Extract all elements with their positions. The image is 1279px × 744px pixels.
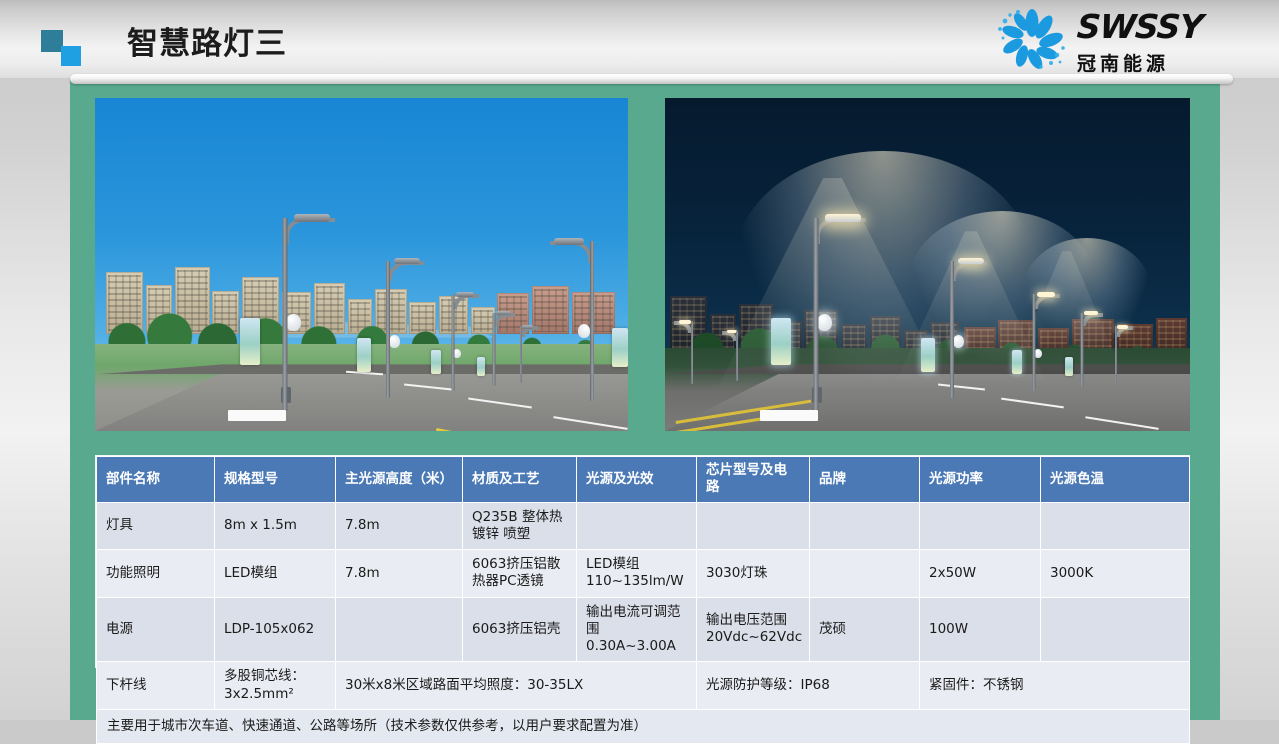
water-droplet-flower-logo-icon [993,7,1071,73]
cell-2-5: 输出电压范围20Vdc~62Vdc [697,597,810,662]
specification-table-container: 部件名称 规格型号 主光源高度（米） 材质及工艺 光源及光效 芯片型号及电路 品… [96,456,1189,667]
cell-1-1: LED模组 [215,550,336,598]
cell-2-4: 输出电流可调范围0.30A~3.00A [577,597,697,662]
cell-2-1: LDP-105x062 [215,597,336,662]
smart-street-light-pole [728,331,746,381]
cell-0-7 [920,502,1041,550]
cell-1-8: 3000K [1041,550,1190,598]
pole-foundation-plate [228,410,286,421]
cell-2-8 [1041,597,1190,662]
smart-street-light-pole [481,313,507,386]
cell-0-1: 8m x 1.5m [215,502,336,550]
col-header-3: 材质及工艺 [463,457,577,503]
smart-street-light-pole [681,321,703,384]
table-row: 功能照明 LED模组 7.8m 6063挤压铝散热器PC透镜 LED模组110~… [97,550,1190,598]
smart-street-light-pole [436,294,470,391]
cell-2-2 [336,597,463,662]
cell-3-cable-spec: 多股铜芯线：3x2.5mm² [215,662,336,710]
smart-street-light-pole [928,261,976,398]
cell-1-3: 6063挤压铝散热器PC透镜 [463,550,577,598]
smart-street-light-pole [1069,313,1095,386]
specification-table: 部件名称 规格型号 主光源高度（米） 材质及工艺 光源及光效 芯片型号及电路 品… [96,456,1190,744]
cell-1-0: 功能照明 [97,550,215,598]
cell-3-component: 下杆线 [97,662,215,710]
cell-3-fasteners: 紧固件：不锈钢 [920,662,1190,710]
decorative-square-dark-icon [41,30,63,52]
col-header-5: 芯片型号及电路 [697,457,810,503]
table-footnote-row: 主要用于城市次车道、快速通道、公路等场所（技术参数仅供参考，以用户要求配置为准） [97,709,1190,743]
cell-1-7: 2x50W [920,550,1041,598]
cell-2-7: 100W [920,597,1041,662]
cell-1-4: LED模组110~135lm/W [577,550,697,598]
logo-wordmark: SWSSY 冠南能源 [1077,10,1202,76]
header-divider-rail [70,74,1233,84]
smart-street-light-pole [781,218,851,411]
pole-foundation-plate [760,410,818,421]
smart-street-light-pole [364,261,412,398]
cell-0-4 [577,502,697,550]
table-row: 灯具 8m x 1.5m 7.8m Q235B 整体热镀锌 喷塑 [97,502,1190,550]
decorative-square-blue-icon [61,46,81,66]
table-row: 下杆线 多股铜芯线：3x2.5mm² 30米x8米区域路面平均照度：30-35L… [97,662,1190,710]
cell-1-5: 3030灯珠 [697,550,810,598]
company-logo: SWSSY 冠南能源 [993,4,1261,76]
cell-0-6 [810,502,920,550]
cell-0-3: Q235B 整体热镀锌 喷塑 [463,502,577,550]
col-header-2: 主光源高度（米） [336,457,463,503]
cell-0-5 [697,502,810,550]
smart-street-light-pole [564,241,620,401]
table-footnote: 主要用于城市次车道、快速通道、公路等场所（技术参数仅供参考，以用户要求配置为准） [97,709,1190,743]
daytime-street-lighting-render [95,98,628,431]
cell-2-3: 6063挤压铝壳 [463,597,577,662]
page-title: 智慧路灯三 [127,18,287,63]
cell-1-6 [810,550,920,598]
cell-0-2: 7.8m [336,502,463,550]
logo-brand-chinese: 冠南能源 [1077,49,1202,76]
cell-2-6: 茂硕 [810,597,920,662]
col-header-1: 规格型号 [215,457,336,503]
col-header-7: 光源功率 [920,457,1041,503]
col-header-6: 品牌 [810,457,920,503]
smart-street-light-pole [511,326,531,383]
table-row: 电源 LDP-105x062 6063挤压铝壳 输出电流可调范围0.30A~3.… [97,597,1190,662]
col-header-4: 光源及光效 [577,457,697,503]
nighttime-street-lighting-render [665,98,1190,431]
smart-street-light-pole [1017,294,1051,391]
table-header-row: 部件名称 规格型号 主光源高度（米） 材质及工艺 光源及光效 芯片型号及电路 品… [97,457,1190,503]
cell-3-illuminance: 30米x8米区域路面平均照度：30-35LX [336,662,697,710]
cell-0-8 [1041,502,1190,550]
col-header-0: 部件名称 [97,457,215,503]
logo-brand-latin: SWSSY [1076,10,1204,43]
smart-street-light-pole [1106,326,1126,383]
cell-0-0: 灯具 [97,502,215,550]
cell-1-2: 7.8m [336,550,463,598]
cell-2-0: 电源 [97,597,215,662]
page-header: 智慧路灯三 [0,0,1279,78]
cell-3-ip-rating: 光源防护等级：IP68 [697,662,920,710]
photo-gallery [95,98,1190,431]
col-header-8: 光源色温 [1041,457,1190,503]
smart-street-light-pole [250,218,320,411]
